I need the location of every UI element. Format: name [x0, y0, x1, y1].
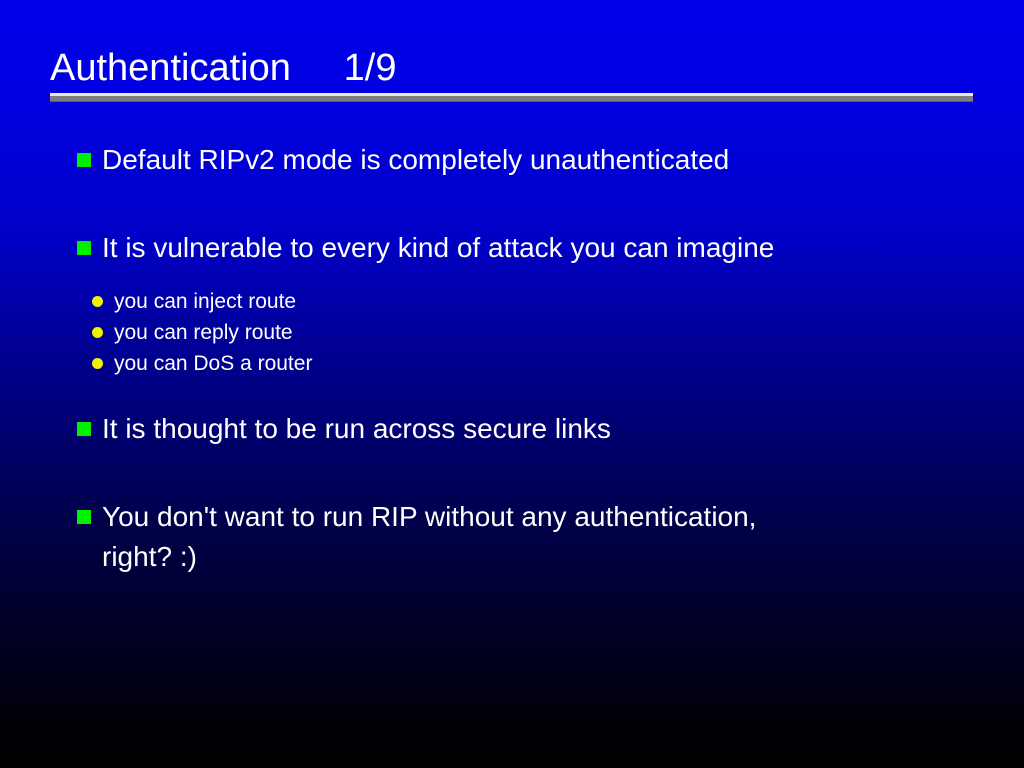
dot-bullet-icon — [92, 327, 103, 338]
list-item-label: It is thought to be run across secure li… — [102, 409, 1024, 449]
rule-shadow — [50, 101, 973, 102]
list-item-label: Default RIPv2 mode is completely unauthe… — [102, 140, 1024, 180]
square-bullet-icon — [77, 510, 91, 524]
list-item-label: you can inject route — [114, 286, 1024, 317]
square-bullet-icon — [77, 241, 91, 255]
square-bullet-icon — [77, 422, 91, 436]
page-title: Authentication 1/9 — [50, 46, 974, 90]
spacer — [0, 184, 1024, 228]
list-item: It is vulnerable to every kind of attack… — [0, 228, 1024, 272]
spacer — [0, 453, 1024, 497]
list-item-label: You don't want to run RIP without any au… — [102, 497, 1024, 577]
list-item: Default RIPv2 mode is completely unauthe… — [0, 140, 1024, 184]
slide-body: Default RIPv2 mode is completely unauthe… — [0, 140, 1024, 577]
list-item: you can DoS a router — [0, 348, 1024, 379]
list-item-label: you can DoS a router — [114, 348, 1024, 379]
square-bullet-icon — [77, 153, 91, 167]
slide-canvas: Authentication 1/9 Default RIPv2 mode is… — [0, 0, 1024, 768]
list-item-label: you can reply route — [114, 317, 1024, 348]
list-item-label: It is vulnerable to every kind of attack… — [102, 228, 1024, 268]
slide-title-block: Authentication 1/9 — [50, 46, 974, 90]
dot-bullet-icon — [92, 296, 103, 307]
spacer — [0, 379, 1024, 409]
list-item: you can inject route — [0, 286, 1024, 317]
dot-bullet-icon — [92, 358, 103, 369]
spacer — [0, 272, 1024, 286]
list-item: you can reply route — [0, 317, 1024, 348]
list-item: You don't want to run RIP without any au… — [0, 497, 1024, 577]
title-underline-rule — [50, 93, 973, 102]
list-item: It is thought to be run across secure li… — [0, 409, 1024, 453]
